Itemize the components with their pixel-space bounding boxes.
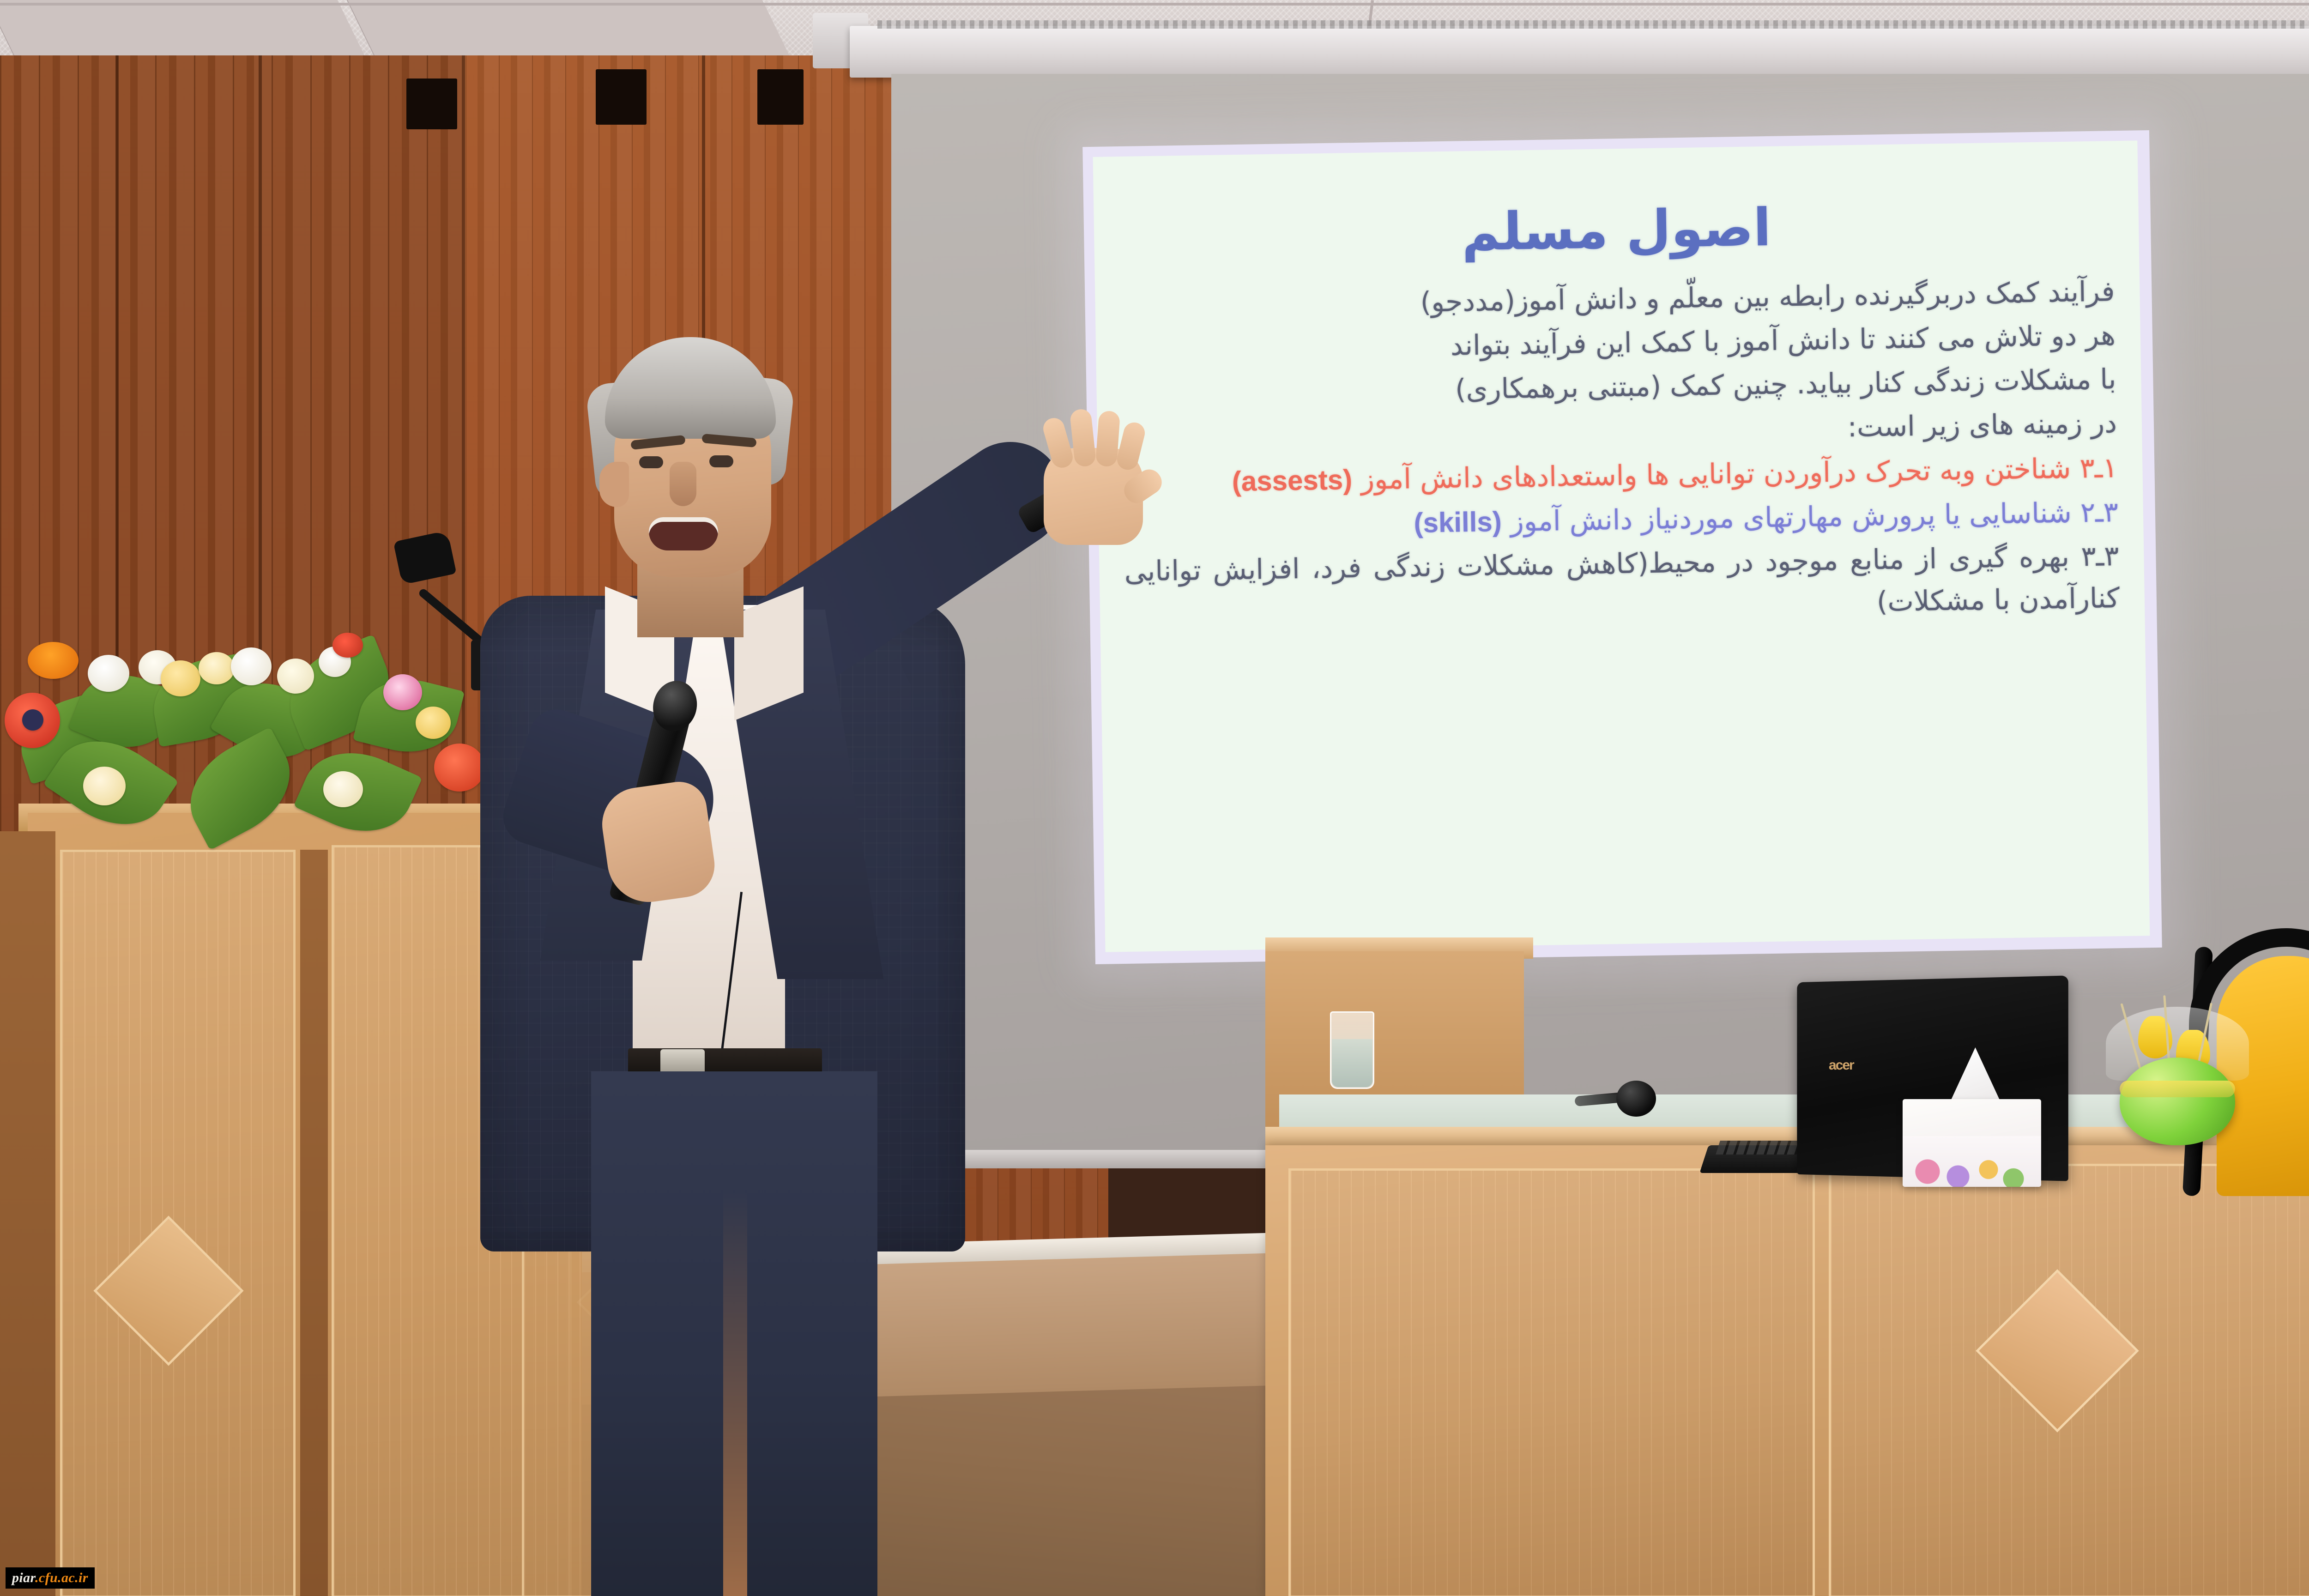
slide-bullet-1-term: (assests) [1232, 464, 1352, 497]
microphone-clip-icon [393, 531, 456, 585]
ear [599, 462, 629, 507]
cream-flower [83, 767, 126, 805]
photograph-scene: Reflacta اصول مسلم فرآیند کمک دربرگیرنده… [0, 0, 2309, 1596]
wall-vent-block-3 [757, 69, 804, 125]
slide-bullet-3: ۳ـ۳ بهره گیری از منابع موجود در محیط(کاه… [1124, 535, 2120, 635]
yellow-flower [416, 707, 451, 739]
finger [1041, 416, 1076, 470]
orange-flower [28, 642, 79, 679]
podium-groove [300, 850, 328, 1596]
slide-bullet-2-text: ۳ـ۲ شناسایی یا پرورش مهارتهای موردنیاز د… [1510, 496, 2118, 538]
nose [670, 462, 696, 506]
vase-ribbon [2120, 1081, 2235, 1097]
slide-body: فرآیند کمک دربرگیرنده رابطه بین معلّم و … [1120, 271, 2120, 637]
cream-flower [277, 659, 314, 694]
ceiling-tile-a [0, 0, 364, 55]
flower-vase[interactable] [2120, 1058, 2235, 1145]
eye-left [639, 456, 663, 468]
yellow-flower [199, 652, 235, 684]
eye-right [709, 455, 733, 467]
slide-bullet-2-term: (skills) [1414, 506, 1502, 538]
wall-vent-block-1 [406, 79, 457, 129]
ceiling-tile-b [347, 0, 790, 55]
poppy-center [22, 709, 43, 731]
slide-bullet-1-text: ۱ـ۳ شناختن وبه تحرک درآوردن توانایی ها و… [1361, 452, 2118, 496]
slide-title: اصول مسلم [1118, 193, 2114, 268]
site-watermark: piar.cfu.ac.ir [6, 1567, 95, 1589]
roller-slot [877, 20, 2309, 29]
mouth [649, 517, 718, 550]
finger [1115, 420, 1147, 472]
hair [605, 337, 776, 439]
raised-hand [1044, 406, 1159, 545]
watermark-suffix: .cfu.ac.ir [35, 1570, 88, 1585]
tissue-box[interactable] [1903, 1099, 2041, 1187]
acer-logo: acer [1829, 1058, 1884, 1073]
yellow-flower [161, 660, 200, 696]
tissue-box-floral-print [1903, 1136, 2041, 1187]
wall-vent-block-2 [596, 69, 647, 125]
projector-screen-roller[interactable]: Reflacta [850, 26, 2309, 78]
podium-panel-left [60, 850, 296, 1596]
red-bird-accent [332, 633, 363, 658]
projected-slide: اصول مسلم فرآیند کمک دربرگیرنده رابطه بی… [1082, 130, 2162, 964]
cup-water-level [1332, 1039, 1372, 1087]
pen-knob [1616, 1081, 1656, 1117]
desk-panel-left [1288, 1168, 1815, 1596]
white-flower [88, 655, 129, 692]
slide-content-area: اصول مسلم فرآیند کمک دربرگیرنده رابطه بی… [1093, 140, 2150, 952]
cream-flower [323, 771, 363, 807]
ceiling-seam-top [0, 3, 2309, 6]
trouser-leg-gap [723, 1191, 747, 1596]
podium-side-dark [0, 831, 55, 1596]
watermark-prefix: piar [12, 1570, 35, 1585]
speaker [453, 323, 1136, 1596]
white-flower [231, 647, 272, 685]
